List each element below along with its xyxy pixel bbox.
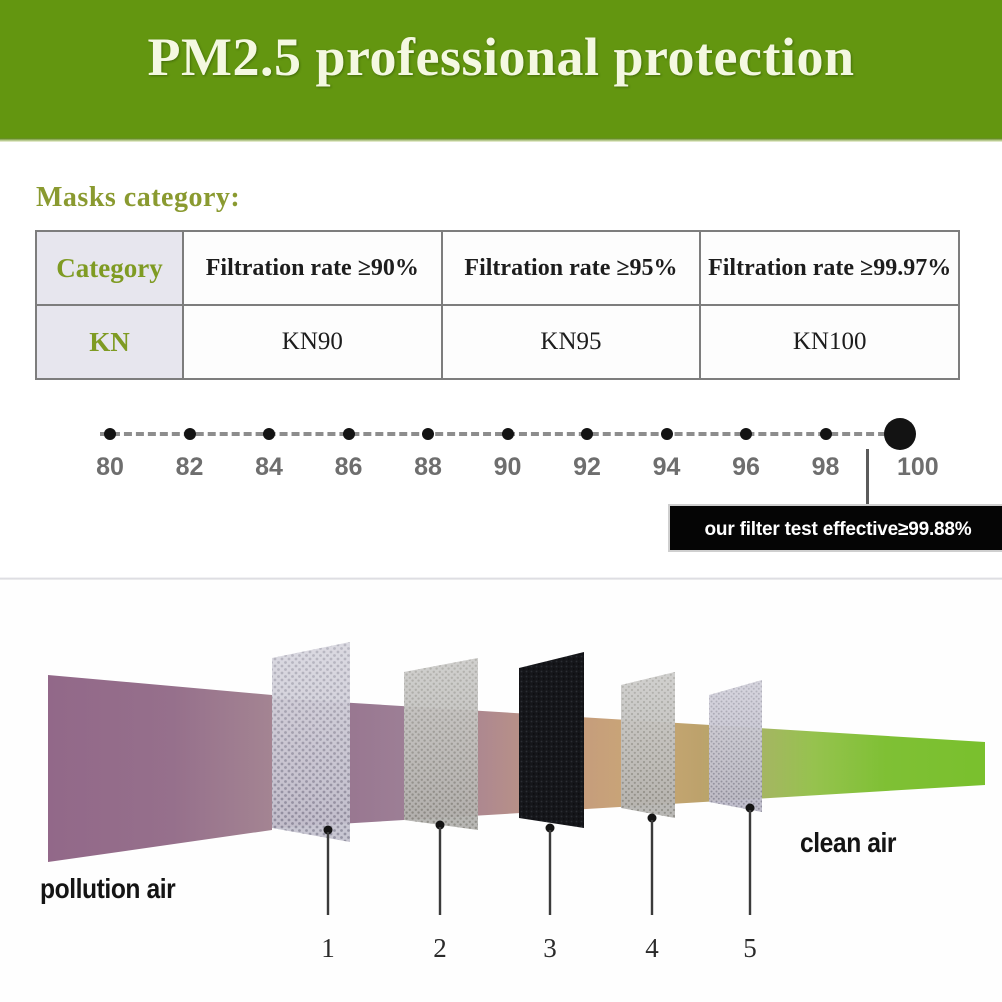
- scale-tick-dot-80: [104, 428, 116, 440]
- scale-highlight-dot: [884, 418, 916, 450]
- table-key-category: Category: [36, 231, 183, 305]
- masks-category-label: Masks category:: [36, 182, 240, 214]
- filter-diagram-svg: [0, 580, 1002, 1002]
- page-title: PM2.5 professional protection: [0, 26, 1002, 88]
- table-cell-filtration-90: Filtration rate ≥90%: [183, 231, 442, 305]
- filtration-scale: 80828486889092949698100: [0, 405, 1002, 495]
- scale-tick-label-98: 98: [812, 453, 840, 482]
- scale-tick-dot-96: [740, 428, 752, 440]
- layer-number-1: 1: [321, 933, 335, 964]
- scale-tick-dot-94: [661, 428, 673, 440]
- pm25-infographic-page: PM2.5 professional protection Masks cate…: [0, 0, 1002, 1002]
- scale-tick-label-92: 92: [573, 453, 601, 482]
- table-cell-filtration-95: Filtration rate ≥95%: [442, 231, 701, 305]
- scale-tick-dot-84: [263, 428, 275, 440]
- scale-tick-label-80: 80: [96, 453, 124, 482]
- scale-tick-label-90: 90: [494, 453, 522, 482]
- scale-tick-label-96: 96: [732, 453, 760, 482]
- table-cell-kn100: KN100: [700, 305, 959, 379]
- layer-number-4: 4: [645, 933, 659, 964]
- layer-number-2: 2: [433, 933, 447, 964]
- pollution-air-stream: [48, 675, 272, 862]
- filter-test-callout-text: our filter test effective≥99.88%: [670, 506, 1002, 554]
- scale-tick-dot-90: [502, 428, 514, 440]
- table-key-kn: KN: [36, 305, 183, 379]
- scale-tick-label-100: 100: [897, 453, 939, 482]
- scale-tick-label-86: 86: [335, 453, 363, 482]
- table-cell-kn90: KN90: [183, 305, 442, 379]
- scale-tick-label-84: 84: [255, 453, 283, 482]
- pollution-air-label: pollution air: [40, 873, 175, 905]
- masks-category-table: Category Filtration rate ≥90% Filtration…: [35, 230, 960, 380]
- scale-tick-label-94: 94: [653, 453, 681, 482]
- table-row: KN KN90 KN95 KN100: [36, 305, 959, 379]
- scale-tick-dot-88: [422, 428, 434, 440]
- scale-tick-dot-98: [820, 428, 832, 440]
- layer-number-3: 3: [543, 933, 557, 964]
- scale-tick-dot-92: [581, 428, 593, 440]
- table-cell-kn95: KN95: [442, 305, 701, 379]
- table-cell-filtration-9997: Filtration rate ≥99.97%: [700, 231, 959, 305]
- scale-tick-dot-82: [184, 428, 196, 440]
- table-row: Category Filtration rate ≥90% Filtration…: [36, 231, 959, 305]
- scale-tick-label-82: 82: [176, 453, 204, 482]
- filter-layer-3: [519, 652, 584, 828]
- clean-air-label: clean air: [800, 827, 896, 859]
- scale-tick-label-88: 88: [414, 453, 442, 482]
- filter-test-callout: our filter test effective≥99.88%: [668, 504, 1002, 552]
- header-banner: PM2.5 professional protection: [0, 0, 1002, 142]
- scale-tick-dot-86: [343, 428, 355, 440]
- callout-arrow-line: [866, 449, 869, 511]
- layer-number-5: 5: [743, 933, 757, 964]
- filter-layers-diagram: [0, 580, 1002, 1002]
